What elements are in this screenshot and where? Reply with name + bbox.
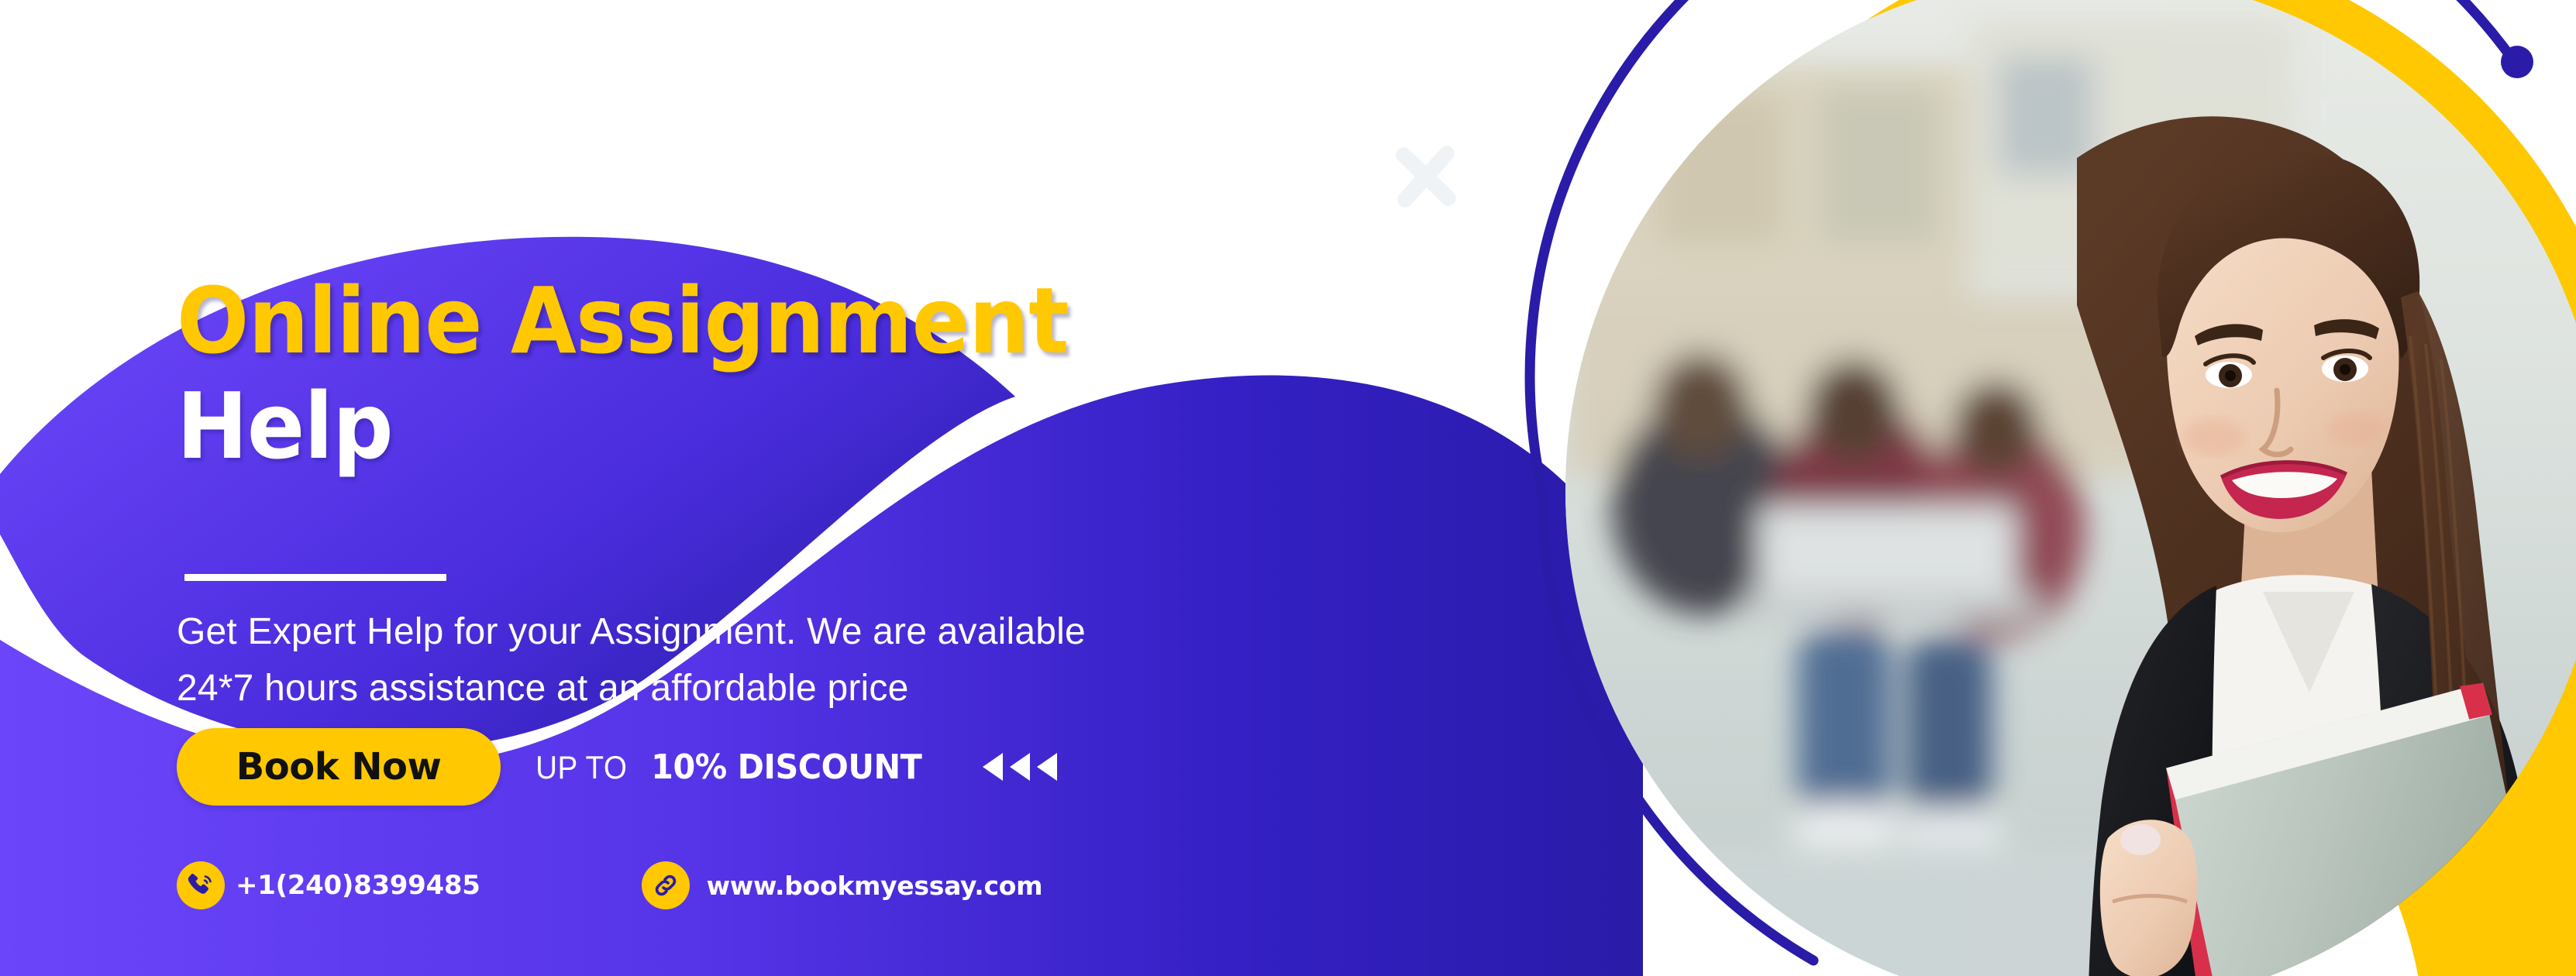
contact-website[interactable]: www.bookmyessay.com (642, 861, 1043, 909)
phone-number: +1(240)8399485 (236, 870, 480, 901)
headline-line-1: Online Assignment (177, 275, 1286, 366)
page-title: Online Assignment Help (177, 275, 1370, 472)
title-divider (184, 574, 446, 581)
headline-line-2: Help (177, 380, 1286, 472)
navy-arc-accent (1519, 0, 2576, 976)
subheadline-line-1: Get Expert Help for your Assignment. We … (177, 604, 1355, 661)
website-url: www.bookmyessay.com (707, 871, 1043, 901)
hero-image-group (1519, 0, 2576, 976)
discount-prefix: UP TO (536, 749, 627, 786)
cross-sparkle-icon (1389, 139, 1463, 214)
triangle-left-icon-group (983, 753, 1057, 781)
contact-phone[interactable]: +1(240)8399485 (177, 861, 480, 909)
triangle-left-icon (1010, 753, 1030, 781)
discount-value: 10% DISCOUNT (651, 747, 921, 787)
promo-banner: Online Assignment Help Get Expert Help f… (0, 0, 2576, 976)
banner-content: Online Assignment Help Get Expert Help f… (177, 0, 1386, 976)
triangle-left-icon (1037, 753, 1057, 781)
phone-icon (177, 861, 225, 909)
cta-row: Book Now UP TO 10% DISCOUNT (177, 728, 1057, 806)
discount-label: UP TO 10% DISCOUNT (532, 747, 930, 787)
book-now-button[interactable]: Book Now (177, 728, 501, 806)
triangle-left-icon (983, 753, 1003, 781)
subheadline-line-2: 24*7 hours assistance at an affordable p… (177, 661, 1355, 717)
contact-row: +1(240)8399485 www.bookmyessay.com (177, 861, 1042, 909)
subheadline: Get Expert Help for your Assignment. We … (177, 604, 1355, 717)
link-icon (642, 861, 690, 909)
